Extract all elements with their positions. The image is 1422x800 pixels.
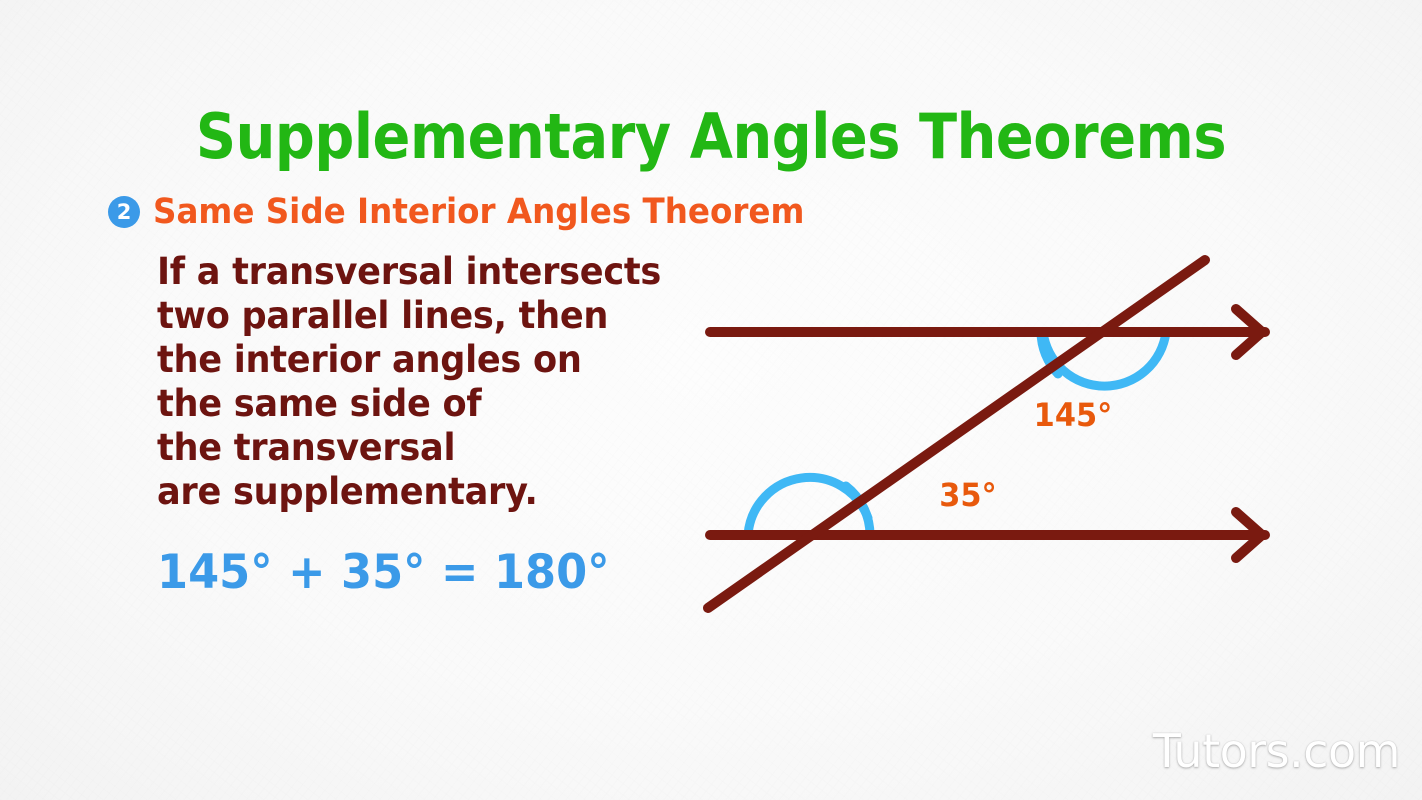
page-title: Supplementary Angles Theorems (71, 100, 1351, 173)
theorem-line: If a transversal intersects (157, 250, 661, 294)
theorem-line: the interior angles on (157, 338, 661, 382)
angle-label-145: 145° (1034, 396, 1113, 434)
theorem-line: the transversal (157, 426, 661, 470)
theorem-heading-row: 2 Same Side Interior Angles Theorem (108, 192, 853, 232)
supplementary-equation: 145° + 35° = 180° (157, 545, 610, 600)
theorem-line: are supplementary. (157, 470, 661, 514)
step-number-badge: 2 (108, 196, 140, 228)
theorem-name-label: Same Side Interior Angles Theorem (153, 192, 804, 232)
theorem-statement: If a transversal intersects two parallel… (157, 250, 688, 514)
watermark-logo: Tutors.com (1153, 724, 1400, 778)
theorem-line: two parallel lines, then (157, 294, 661, 338)
angle-label-35: 35° (939, 476, 997, 514)
theorem-line: the same side of (157, 382, 661, 426)
slide-canvas: Supplementary Angles Theorems 2 Same Sid… (0, 0, 1422, 800)
angles-diagram-svg (680, 235, 1300, 635)
angles-diagram: 145° 35° (680, 235, 1300, 635)
transversal-line (708, 260, 1205, 608)
